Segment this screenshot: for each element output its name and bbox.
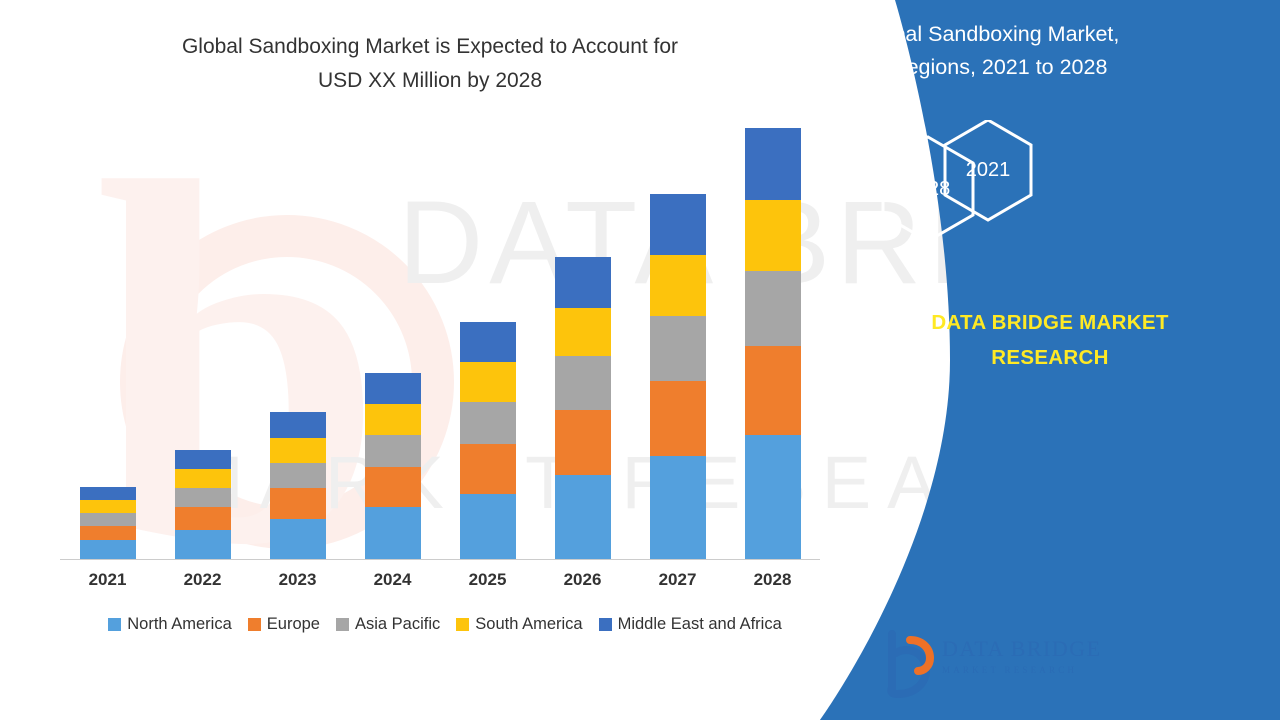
x-axis-line (60, 559, 820, 560)
bar-segment (745, 346, 801, 435)
bar-segment (745, 200, 801, 271)
bar-2027 (650, 194, 706, 559)
chart-title: Global Sandboxing Market is Expected to … (60, 30, 800, 98)
bar-segment (460, 444, 516, 494)
bar-segment (365, 435, 421, 466)
panel-title: Global Sandboxing Market, By Regions, 20… (860, 18, 1260, 84)
right-side-panel: Global Sandboxing Market, By Regions, 20… (820, 0, 1280, 720)
x-axis-label: 2023 (258, 570, 338, 590)
bar-segment (175, 530, 231, 559)
x-axis-label: 2028 (733, 570, 813, 590)
bar-segment (175, 507, 231, 530)
bar-segment (175, 488, 231, 507)
panel-title-line1: Global Sandboxing Market, (860, 18, 1260, 51)
logo-name: DATA BRIDGE (942, 636, 1102, 662)
bar-segment (365, 373, 421, 404)
bar-segment (270, 438, 326, 463)
company-logo: DATA BRIDGE MARKET RESEARCH (880, 630, 1120, 702)
bar-segment (555, 257, 611, 307)
bar-segment (270, 463, 326, 488)
bar-segment (650, 316, 706, 381)
bar-segment (175, 450, 231, 469)
bar-2025 (460, 322, 516, 559)
bar-segment (80, 513, 136, 526)
logo-tagline: MARKET RESEARCH (942, 665, 1077, 675)
legend-item: Asia Pacific (336, 615, 440, 634)
legend-item: South America (456, 615, 582, 634)
bar-segment (175, 469, 231, 488)
bar-segment (365, 404, 421, 435)
bar-2028 (745, 128, 801, 559)
bar-segment (555, 308, 611, 356)
chart-plot-area (60, 120, 820, 560)
x-axis-label: 2022 (163, 570, 243, 590)
bar-2021 (80, 487, 136, 559)
legend-item: North America (108, 615, 232, 634)
bar-segment (365, 467, 421, 507)
bar-segment (745, 128, 801, 199)
bar-segment (650, 456, 706, 559)
x-axis-label: 2026 (543, 570, 623, 590)
poster-root: b DATA BRIDGE MARKET RESEARCH Global San… (0, 0, 1280, 720)
bar-segment (460, 402, 516, 444)
legend-label: Asia Pacific (355, 615, 440, 634)
legend-swatch (248, 618, 261, 631)
x-axis-label: 2025 (448, 570, 528, 590)
bar-segment (460, 494, 516, 559)
bar-2022 (175, 450, 231, 559)
chart-title-line1: Global Sandboxing Market is Expected to … (60, 30, 800, 64)
logo-mark-icon (880, 630, 940, 698)
brand-line2: RESEARCH (820, 340, 1280, 375)
chart-legend: North AmericaEuropeAsia PacificSouth Ame… (50, 615, 840, 634)
bar-segment (555, 475, 611, 559)
legend-label: South America (475, 615, 582, 634)
hexagon-group: 2028 2021 (820, 120, 1280, 270)
x-axis-label: 2024 (353, 570, 433, 590)
bar-segment (460, 362, 516, 402)
legend-item: Middle East and Africa (599, 615, 782, 634)
bar-segment (270, 519, 326, 559)
bar-segment (270, 488, 326, 519)
panel-title-line2: By Regions, 2021 to 2028 (860, 51, 1260, 84)
legend-label: North America (127, 615, 232, 634)
legend-swatch (336, 618, 349, 631)
bar-2026 (555, 257, 611, 559)
bar-segment (650, 381, 706, 456)
bar-segment (460, 322, 516, 362)
bar-segment (555, 410, 611, 475)
bar-segment (270, 412, 326, 437)
bar-segment (745, 435, 801, 559)
bar-segment (80, 540, 136, 559)
bar-2023 (270, 412, 326, 559)
hexagon-label-2021: 2021 (945, 120, 1031, 220)
legend-swatch (599, 618, 612, 631)
legend-label: Europe (267, 615, 320, 634)
bar-segment (80, 526, 136, 541)
brand-line1: DATA BRIDGE MARKET (820, 305, 1280, 340)
bar-segment (80, 487, 136, 501)
bar-segment (650, 255, 706, 316)
bar-segment (80, 500, 136, 513)
bar-segment (745, 271, 801, 346)
legend-swatch (108, 618, 121, 631)
x-axis-labels: 20212022202320242025202620272028 (60, 570, 820, 598)
chart-title-line2: USD XX Million by 2028 (60, 64, 800, 98)
x-axis-label: 2027 (638, 570, 718, 590)
brand-name: DATA BRIDGE MARKET RESEARCH (820, 305, 1280, 375)
bar-segment (365, 507, 421, 559)
x-axis-label: 2021 (68, 570, 148, 590)
bar-2024 (365, 373, 421, 559)
legend-swatch (456, 618, 469, 631)
bar-segment (650, 194, 706, 255)
legend-item: Europe (248, 615, 320, 634)
legend-label: Middle East and Africa (618, 615, 782, 634)
bar-segment (555, 356, 611, 410)
